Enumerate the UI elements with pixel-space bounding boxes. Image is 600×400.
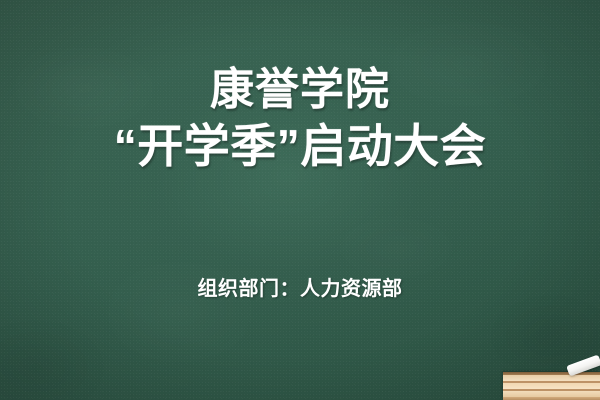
slide-content: 康誉学院 “开学季”启动大会 组织部门：人力资源部 xyxy=(0,0,600,400)
title-line-1: 康誉学院 xyxy=(0,62,600,118)
slide-title: 康誉学院 “开学季”启动大会 xyxy=(0,62,600,174)
chalk-ledge-icon xyxy=(503,372,600,400)
slide-subtitle: 组织部门：人力资源部 xyxy=(0,276,600,302)
presentation-slide: 康誉学院 “开学季”启动大会 组织部门：人力资源部 xyxy=(0,0,600,400)
title-line-2: “开学季”启动大会 xyxy=(0,118,600,174)
